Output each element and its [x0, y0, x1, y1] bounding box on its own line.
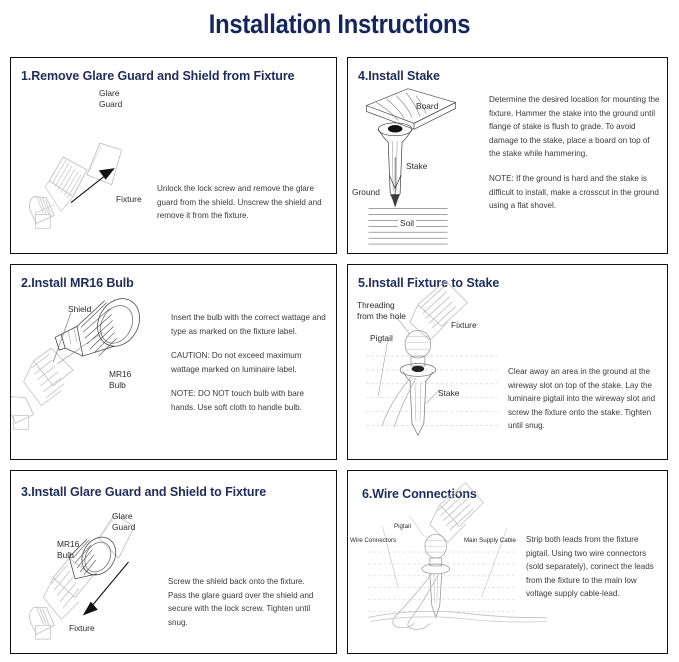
- panel-2-heading: 2.Install MR16 Bulb: [21, 276, 134, 290]
- page-title: Installation Instructions: [41, 0, 639, 48]
- installation-instructions-page: Installation Instructions 1.Remove Glare…: [0, 0, 679, 662]
- panel-5-label-threading: Threading from the hole: [357, 300, 406, 321]
- panel-4-body: Determine the desired location for mount…: [489, 93, 661, 213]
- panel-step-3: 3.Install Glare Guard and Shield to Fixt…: [10, 470, 337, 654]
- panel-4-label-ground: Ground: [352, 187, 380, 198]
- panel-4-label-stake: Stake: [406, 161, 427, 172]
- panel-3-body: Screw the shield back onto the fixture. …: [168, 575, 320, 629]
- panel-6-body: Strip both leads from the fixture pigtai…: [526, 533, 659, 601]
- panel-5-heading: 5.Install Fixture to Stake: [358, 276, 499, 290]
- panel-5-label-pigtail: Pigtail: [370, 333, 393, 344]
- panel-2-paragraph-1: Insert the bulb with the correct wattage…: [171, 311, 329, 338]
- panel-step-1: 1.Remove Glare Guard and Shield from Fix…: [10, 57, 337, 254]
- panel-3-heading: 3.Install Glare Guard and Shield to Fixt…: [21, 485, 266, 499]
- panel-2-paragraph-3: NOTE: DO NOT touch bulb with bare hands.…: [171, 387, 329, 414]
- panel-step-2: 2.Install MR16 Bulb: [10, 264, 337, 460]
- panel-2-label-shield: Shield: [68, 304, 91, 315]
- panel-5-paragraph-1: Clear away an area in the ground at the …: [508, 365, 663, 433]
- panel-3-label-fixture: Fixture: [69, 623, 95, 634]
- panel-3-label-glare-guard: Glare Guard: [112, 511, 135, 532]
- panel-step-6: 6.Wire Connections: [347, 470, 668, 654]
- panel-1-illustration: [11, 58, 336, 253]
- panel-5-body: Clear away an area in the ground at the …: [508, 365, 663, 433]
- panel-4-paragraph-1: Determine the desired location for mount…: [489, 93, 661, 161]
- panel-3-label-mr16-bulb: MR16 Bulb: [57, 539, 79, 560]
- panel-2-label-mr16-bulb: MR16 Bulb: [109, 369, 131, 390]
- panel-1-body: Unlock the lock screw and remove the gla…: [157, 182, 323, 223]
- panel-1-heading: 1.Remove Glare Guard and Shield from Fix…: [21, 69, 294, 83]
- panel-6-paragraph-1: Strip both leads from the fixture pigtai…: [526, 533, 659, 601]
- panel-5-label-fixture: Fixture: [451, 320, 477, 331]
- panel-6-heading: 6.Wire Connections: [362, 487, 477, 501]
- panel-step-4: 4.Install Stake: [347, 57, 668, 254]
- panel-6-label-pigtail: Pigtail: [394, 523, 411, 531]
- panel-4-label-board: Board: [416, 101, 438, 112]
- panel-4-paragraph-2: NOTE: If the ground is hard and the stak…: [489, 172, 661, 213]
- panel-6-label-main-supply-cable: Main Supply Cable: [464, 537, 516, 545]
- panel-step-5: 5.Install Fixture to Stake: [347, 264, 668, 460]
- panel-1-label-glare-guard: Glare Guard: [99, 88, 122, 109]
- panel-5-label-stake: Stake: [438, 388, 459, 399]
- panel-2-body: Insert the bulb with the correct wattage…: [171, 311, 329, 415]
- panel-2-paragraph-2: CAUTION: Do not exceed maximum wattage m…: [171, 349, 329, 376]
- panel-1-label-fixture: Fixture: [116, 194, 142, 205]
- panel-3-paragraph-1: Screw the shield back onto the fixture. …: [168, 575, 320, 629]
- panel-4-heading: 4.Install Stake: [358, 69, 440, 83]
- panel-4-label-soil: Soil: [398, 218, 416, 229]
- panel-6-label-wire-connectors: Wire Connectors: [350, 537, 396, 545]
- panel-1-paragraph-1: Unlock the lock screw and remove the gla…: [157, 182, 323, 223]
